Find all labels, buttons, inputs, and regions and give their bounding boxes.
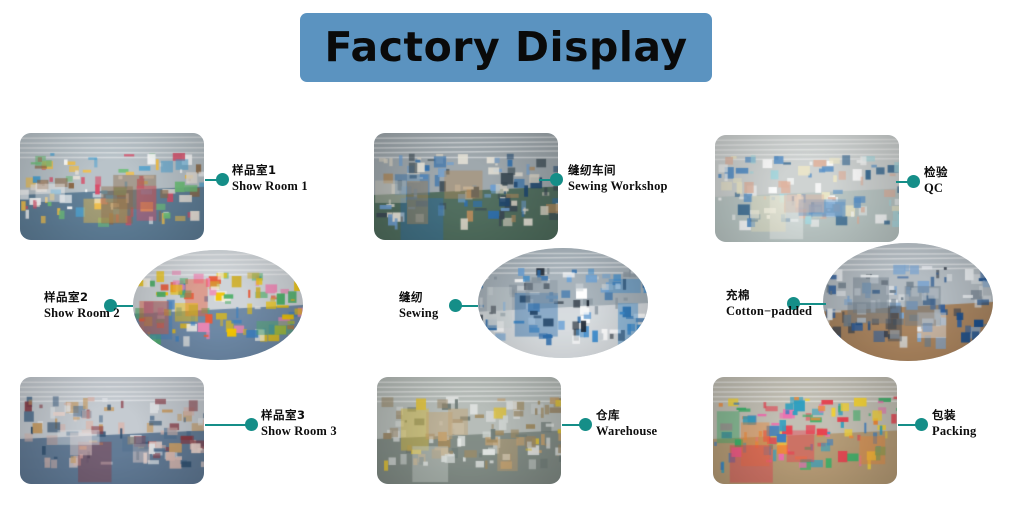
label-show-room-2: 样品室2Show Room 2 xyxy=(44,290,120,321)
label-en-show-room-2: Show Room 2 xyxy=(44,305,120,321)
photo-warehouse[interactable] xyxy=(377,377,561,484)
photo-show-room-3[interactable] xyxy=(20,377,204,484)
photo-show-room-1[interactable] xyxy=(20,133,204,240)
connector-line-packing xyxy=(898,424,916,426)
connector-line-sewing xyxy=(461,305,478,307)
label-cn-show-room-1: 样品室1 xyxy=(232,163,308,178)
label-en-qc: QC xyxy=(924,180,948,196)
connector-line-warehouse xyxy=(562,424,580,426)
photo-image-sewing xyxy=(478,248,648,358)
label-cn-warehouse: 仓库 xyxy=(596,408,657,423)
label-cn-sewing: 缝纫 xyxy=(399,290,438,305)
page-title-band: Factory Display xyxy=(300,13,712,82)
photo-sewing[interactable] xyxy=(478,248,648,358)
photo-image-packing xyxy=(713,377,897,484)
photo-image-show-room-2 xyxy=(133,250,303,360)
label-cn-show-room-3: 样品室3 xyxy=(261,408,337,423)
label-en-sewing-workshop: Sewing Workshop xyxy=(568,178,668,194)
connector-dot-qc[interactable] xyxy=(907,175,920,188)
label-show-room-1: 样品室1Show Room 1 xyxy=(232,163,308,194)
connector-dot-sewing[interactable] xyxy=(449,299,462,312)
label-sewing-workshop: 缝纫车间Sewing Workshop xyxy=(568,163,668,194)
label-cn-cotton-padded: 充棉 xyxy=(726,288,812,303)
label-en-cotton-padded: Cotton−padded xyxy=(726,303,812,319)
label-cn-show-room-2: 样品室2 xyxy=(44,290,120,305)
connector-dot-show-room-1[interactable] xyxy=(216,173,229,186)
label-en-packing: Packing xyxy=(932,423,976,439)
photo-show-room-2[interactable] xyxy=(133,250,303,360)
photo-image-show-room-3 xyxy=(20,377,204,484)
connector-dot-show-room-3[interactable] xyxy=(245,418,258,431)
label-qc: 检验QC xyxy=(924,165,948,196)
label-cn-sewing-workshop: 缝纫车间 xyxy=(568,163,668,178)
photo-cotton-padded[interactable] xyxy=(823,243,993,361)
label-cn-packing: 包装 xyxy=(932,408,976,423)
label-en-show-room-3: Show Room 3 xyxy=(261,423,337,439)
photo-packing[interactable] xyxy=(713,377,897,484)
label-warehouse: 仓库Warehouse xyxy=(596,408,657,439)
connector-dot-warehouse[interactable] xyxy=(579,418,592,431)
label-en-sewing: Sewing xyxy=(399,305,438,321)
label-sewing: 缝纫Sewing xyxy=(399,290,438,321)
connector-dot-sewing-workshop[interactable] xyxy=(550,173,563,186)
label-cn-qc: 检验 xyxy=(924,165,948,180)
connector-dot-packing[interactable] xyxy=(915,418,928,431)
factory-display-page: Factory Display 样品室1Show Room 1缝纫车间Sewin… xyxy=(0,0,1036,518)
photo-image-qc xyxy=(715,135,899,242)
photo-image-cotton-padded xyxy=(823,243,993,361)
photo-qc[interactable] xyxy=(715,135,899,242)
photo-image-show-room-1 xyxy=(20,133,204,240)
photo-sewing-workshop[interactable] xyxy=(374,133,558,240)
label-en-show-room-1: Show Room 1 xyxy=(232,178,308,194)
photo-image-warehouse xyxy=(377,377,561,484)
page-title: Factory Display xyxy=(324,27,687,68)
label-packing: 包装Packing xyxy=(932,408,976,439)
label-show-room-3: 样品室3Show Room 3 xyxy=(261,408,337,439)
label-cotton-padded: 充棉Cotton−padded xyxy=(726,288,812,319)
photo-image-sewing-workshop xyxy=(374,133,558,240)
connector-line-show-room-3 xyxy=(205,424,246,426)
label-en-warehouse: Warehouse xyxy=(596,423,657,439)
